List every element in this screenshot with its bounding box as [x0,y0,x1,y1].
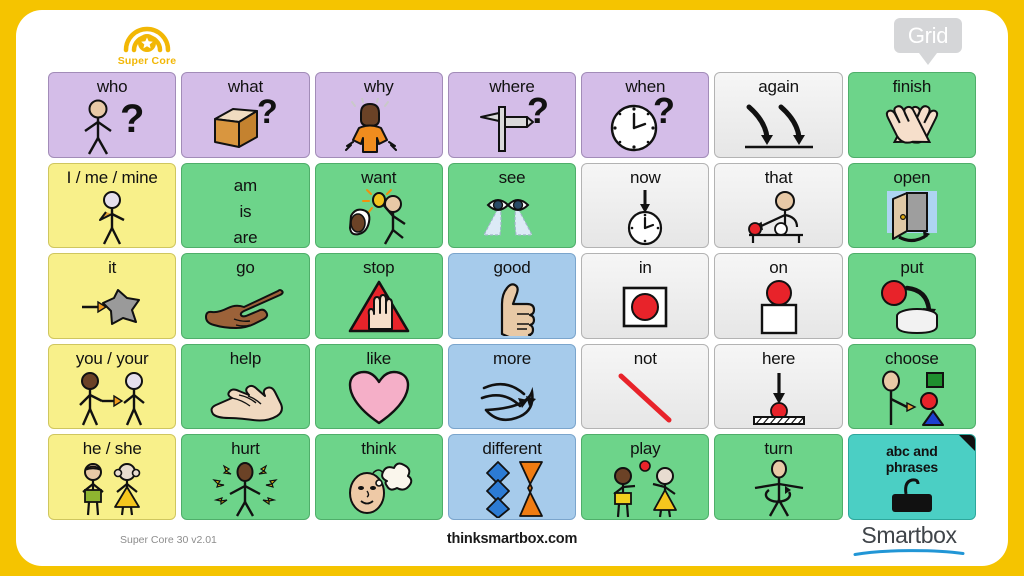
svg-text:?: ? [257,97,278,131]
grid-cell-i-me-mine[interactable]: I / me / mine [48,163,176,249]
arrow-blob-icon [49,277,175,338]
thumbs-up-icon [449,277,575,338]
grid-cell-put[interactable]: put [848,253,976,339]
grid-cell-stop[interactable]: stop [315,253,443,339]
svg-text:?: ? [527,97,549,131]
grid-cell-open[interactable]: open [848,163,976,249]
cell-label: I / me / mine [67,164,158,187]
cell-label: when [625,73,665,96]
person-question-icon: ? [49,96,175,158]
ball-in-box-icon [582,277,708,338]
shapes-contrast-icon [449,458,575,519]
grid-cell-help[interactable]: help [181,344,309,430]
grid-cell-you-your[interactable]: you / your [48,344,176,430]
person-pain-icon [182,458,308,519]
box-question-icon: ? [182,96,308,157]
grid-cell-choose[interactable]: choose [848,344,976,430]
cell-label: in [639,254,652,277]
page-link-corner-icon [959,435,975,451]
eyes-icon [449,186,575,247]
grid-cell-why[interactable]: why [315,72,443,158]
shrug-person-icon [316,96,442,157]
cell-label: more [493,345,531,368]
repeat-arrows-icon [715,96,841,157]
grid-wordmark: Grid [908,25,948,47]
person-reaching-light-icon [316,186,442,247]
cell-label: go [236,254,255,277]
heart-icon [316,368,442,429]
grid-cell-he-she[interactable]: he / she [48,434,176,520]
cell-label: different [482,435,541,458]
smartbox-logo: Smartbox [844,524,974,557]
cell-label: hurt [231,435,260,458]
cell-label: turn [764,435,793,458]
cell-label: choose [885,345,939,368]
grid-cell-on[interactable]: on [714,253,842,339]
communication-board-app: Super Core Grid who ?what ?why where ?wh… [16,10,1008,566]
grid-cell-again[interactable]: again [714,72,842,158]
person-pointing-ball-icon [715,186,841,247]
cell-label: finish [893,73,932,96]
cell-label: why [364,73,394,96]
grid-bubble: Grid [894,18,962,53]
grid-cell-what[interactable]: what ? [181,72,309,158]
arrow-down-ball-icon [715,368,841,429]
cell-label: you / your [76,345,149,368]
crossed-hands-icon [849,96,975,157]
cell-label: am is are [233,164,257,249]
super-core-arc-star-icon [122,16,172,54]
grid-cell-finish[interactable]: finish [848,72,976,158]
cell-label: abc and phrases [886,435,938,475]
symbol-grid: who ?what ?why where ?when ?again finish… [48,72,976,520]
cell-label: he / she [83,435,142,458]
grid-cell-see[interactable]: see [448,163,576,249]
grid-cell-now[interactable]: now [581,163,709,249]
cell-label: that [765,164,793,187]
children-ball-icon [582,458,708,519]
grid-cell-am-is-are[interactable]: am is are [181,163,309,249]
keyboard-icon [849,476,975,519]
grid-cell-more[interactable]: more [448,344,576,430]
board-footer: Super Core 30 v2.01 thinksmartbox.com Sm… [16,520,1008,566]
pointing-hand-icon [182,277,308,338]
grid-bubble-tail [919,53,937,65]
grid-cell-where[interactable]: where ? [448,72,576,158]
grid-cell-go[interactable]: go [181,253,309,339]
svg-text:?: ? [120,97,144,141]
grid-cell-think[interactable]: think [315,434,443,520]
cell-label: on [769,254,788,277]
cell-label: now [630,164,661,187]
cell-label: what [228,73,263,96]
person-self-icon [49,186,175,247]
two-people-arrow-icon [49,368,175,429]
grid-cell-here[interactable]: here [714,344,842,430]
grid-cell-that[interactable]: that [714,163,842,249]
cell-label: see [499,164,526,187]
super-core-logo: Super Core [92,16,202,70]
grid-cell-good[interactable]: good [448,253,576,339]
ball-on-box-icon [715,277,841,338]
person-turn-icon [715,458,841,519]
cell-label: put [900,254,923,277]
cell-label: where [489,73,534,96]
cell-label: again [758,73,799,96]
head-thought-icon [316,458,442,519]
grid-cell-different[interactable]: different [448,434,576,520]
person-choosing-shapes-icon [849,368,975,429]
smartbox-swoosh-icon [853,548,965,557]
grid-cell-abc-and-phrases[interactable]: abc and phrases [848,434,976,520]
open-hand-icon [182,368,308,429]
cell-label: think [361,435,396,458]
red-slash-icon [582,368,708,429]
cell-label: like [366,345,391,368]
grid-logo: Grid [894,18,962,64]
grid-cell-play[interactable]: play [581,434,709,520]
grid-cell-want[interactable]: want [315,163,443,249]
svg-text:?: ? [653,97,675,131]
open-door-icon [849,186,975,247]
clock-question-icon: ? [582,96,708,157]
cell-label: who [97,73,128,96]
boy-girl-icon [49,458,175,519]
clock-arrow-icon [582,186,708,247]
grid-cell-hurt[interactable]: hurt [181,434,309,520]
signpost-question-icon: ? [449,96,575,157]
put-ball-icon [849,277,975,338]
board-header: Super Core Grid [16,10,1008,72]
grid-cell-who[interactable]: who ? [48,72,176,158]
swirl-arrows-icon [449,368,575,429]
cell-label: open [893,164,930,187]
cell-label: play [630,435,660,458]
cell-label: it [108,254,116,277]
cell-label: help [230,345,261,368]
grid-cell-when[interactable]: when ? [581,72,709,158]
cell-label: want [361,164,396,187]
grid-cell-not[interactable]: not [581,344,709,430]
cell-label: good [493,254,530,277]
cell-label: here [762,345,795,368]
cell-label: not [634,345,657,368]
smartbox-wordmark: Smartbox [844,524,974,547]
grid-cell-it[interactable]: it [48,253,176,339]
grid-cell-in[interactable]: in [581,253,709,339]
grid-cell-like[interactable]: like [315,344,443,430]
cell-label: stop [363,254,394,277]
stop-hand-triangle-icon [316,277,442,338]
super-core-wordmark: Super Core [118,55,177,67]
grid-cell-turn[interactable]: turn [714,434,842,520]
